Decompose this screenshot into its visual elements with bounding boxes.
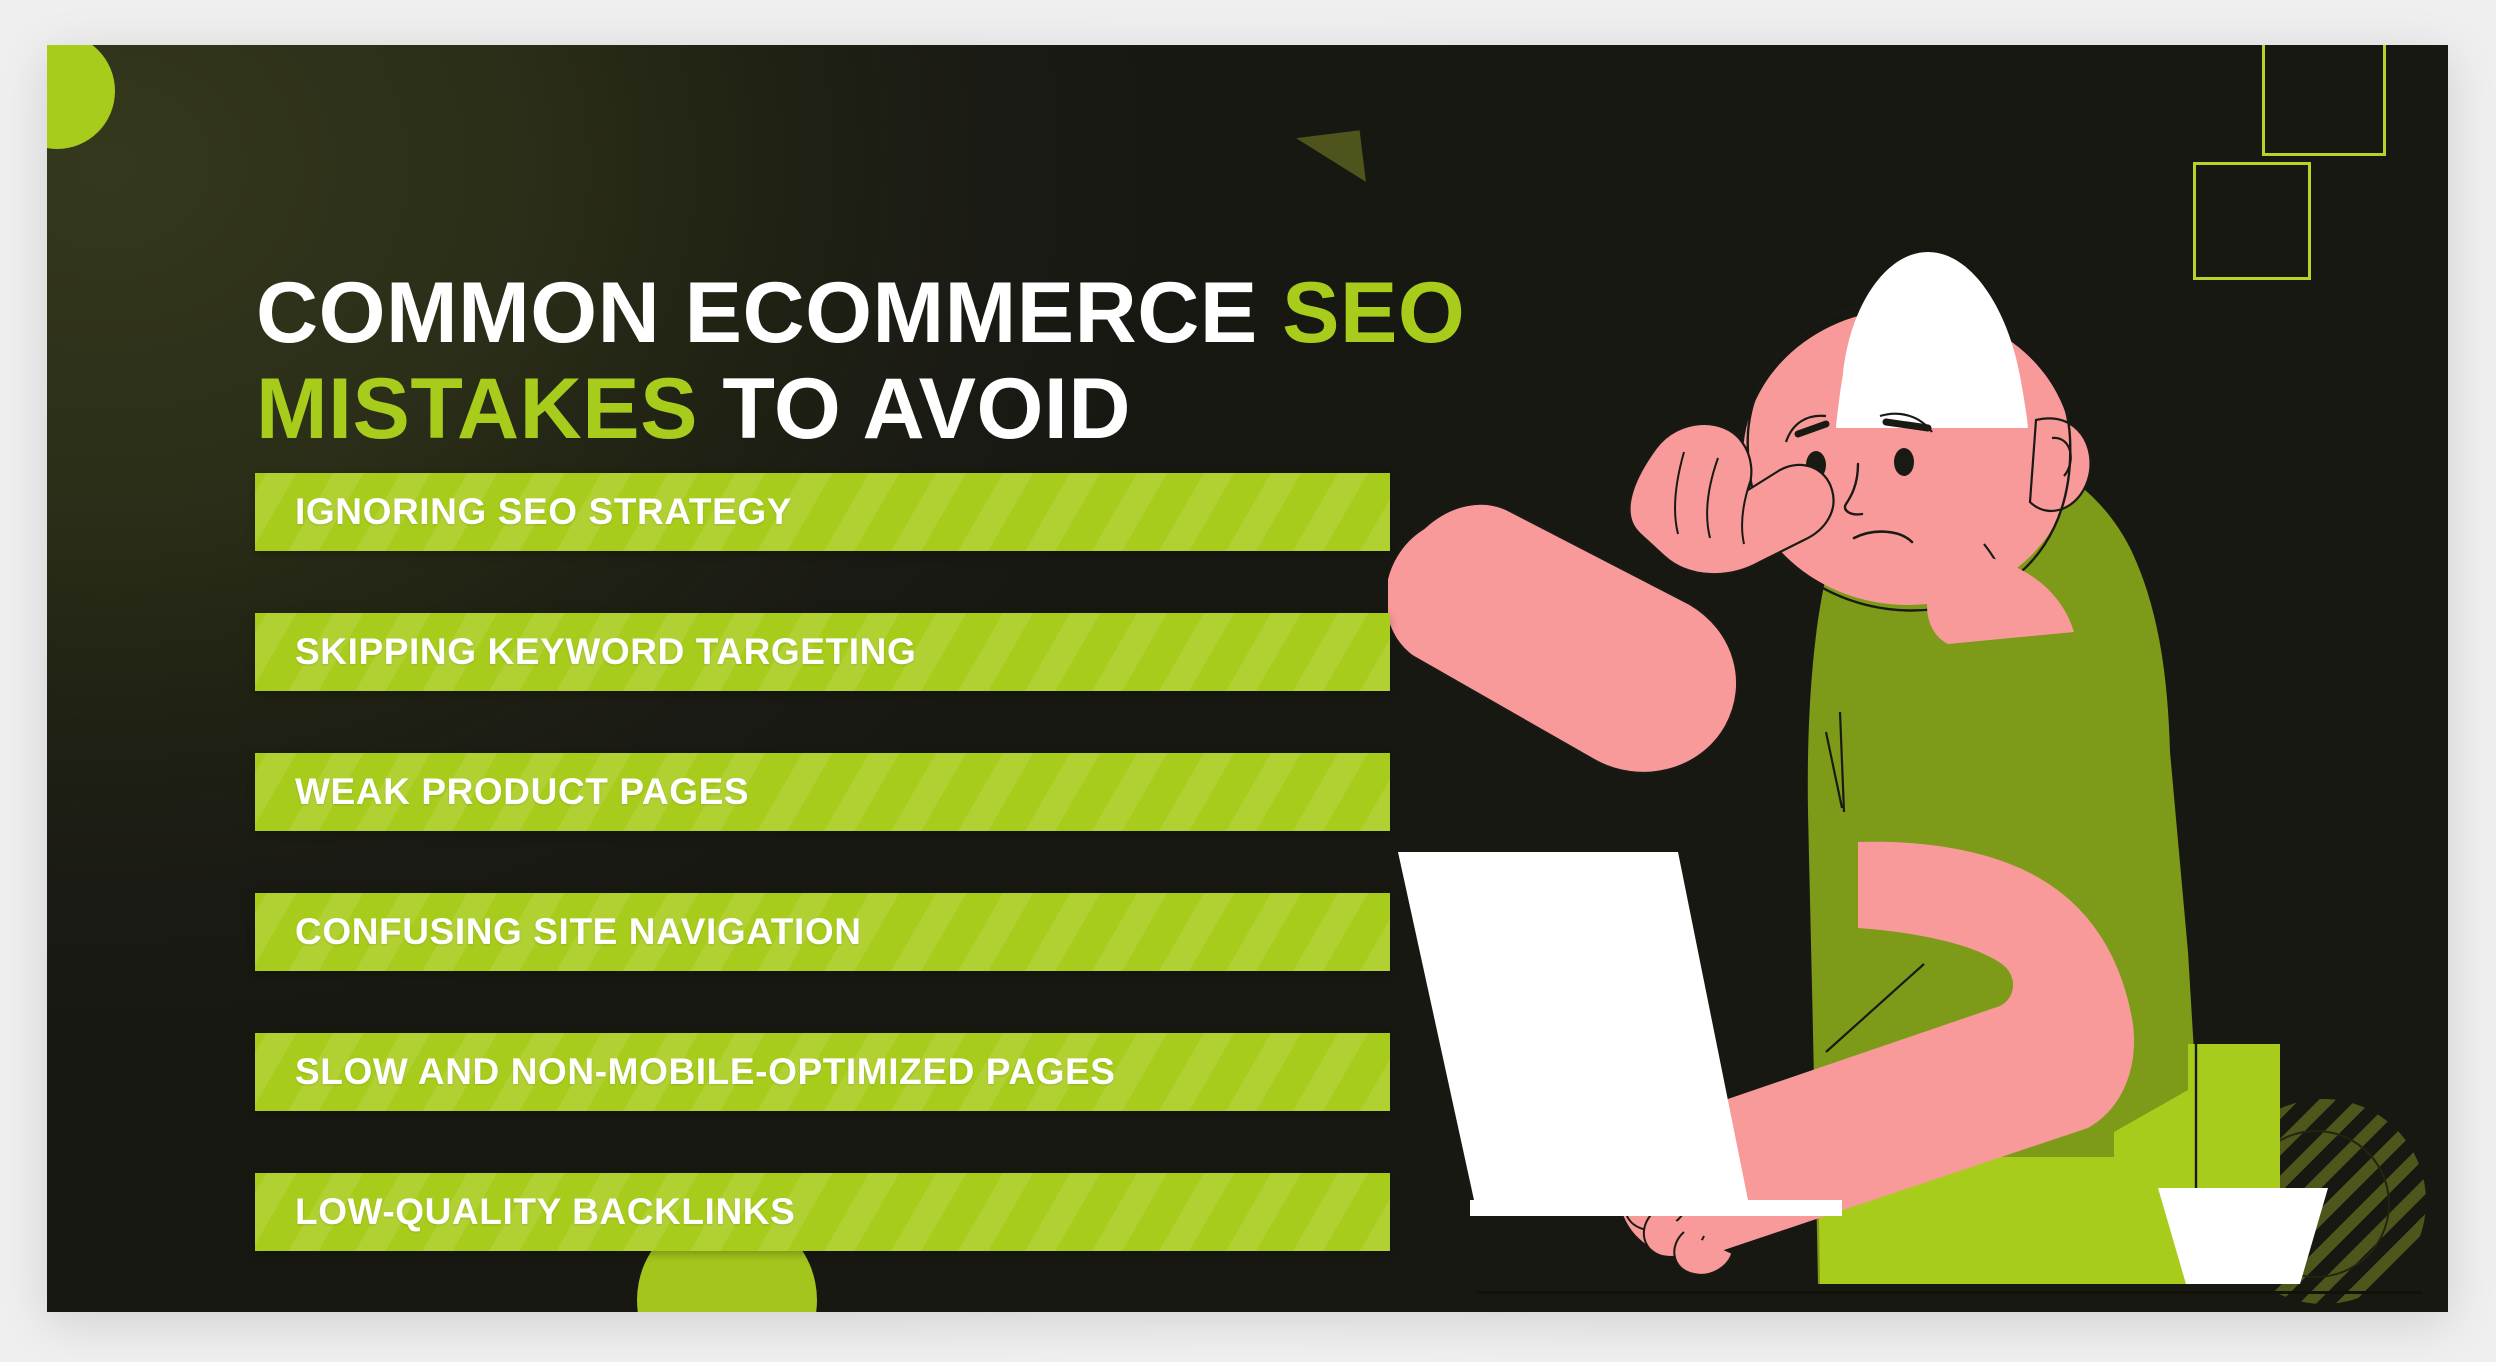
shirt-lower-band [1818,1157,2200,1284]
reaching-hand [1623,1122,1744,1275]
list-item[interactable]: SKIPPING KEYWORD TARGETING [255,613,1390,691]
eye-left [1806,451,1826,479]
laptop-base [1470,1200,1842,1216]
shirt-torso [1808,442,2200,1284]
list-item-label: WEAK PRODUCT PAGES [255,771,749,813]
list-item[interactable]: IGNORING SEO STRATEGY [255,473,1390,551]
list-item-label: SKIPPING KEYWORD TARGETING [255,631,916,673]
page-backdrop: COMMON ECOMMERCE SEO MISTAKES TO AVOID I… [0,0,2496,1362]
page-title: COMMON ECOMMERCE SEO MISTAKES TO AVOID [256,265,1576,458]
floor-line [1477,1291,2422,1294]
eyebrow-arc-left [1786,416,1826,442]
list-item-label: CONFUSING SITE NAVIGATION [255,911,862,953]
list-item-label: LOW-QUALITY BACKLINKS [255,1191,795,1233]
facepalm-hand [1629,424,1833,574]
circle-outline-decoration [2242,1130,2390,1278]
facepalm-arm [1388,504,1737,773]
head [1743,309,2073,605]
list-item-label: SLOW AND NON-MOBILE-OPTIMIZED PAGES [255,1051,1116,1093]
laptop-screen [1398,852,1748,1200]
lower-arm [1619,842,2134,1257]
nose [1845,464,1862,514]
eye-right [1894,448,1914,476]
title-line-1: COMMON ECOMMERCE SEO [256,265,1576,361]
title-line-1-text: COMMON ECOMMERCE [256,265,1282,361]
title-line-2: MISTAKES TO AVOID [256,361,1576,457]
finger-line-2 [1707,458,1718,538]
mouth [1854,532,1912,542]
title-accent-mistakes: MISTAKES [256,361,698,457]
neck-shoulder [1927,552,2074,644]
list-item-label: IGNORING SEO STRATEGY [255,491,792,533]
list-item[interactable]: WEAK PRODUCT PAGES [255,753,1390,831]
mistakes-list: IGNORING SEO STRATEGY SKIPPING KEYWORD T… [255,473,1390,1251]
plant-leaf-left [2114,1090,2188,1252]
finger-line-3 [1742,482,1750,544]
eyebrow-right [1886,422,1928,428]
ear [2030,418,2091,511]
eyebrow-left [1798,424,1826,434]
list-item[interactable]: SLOW AND NON-MOBILE-OPTIMIZED PAGES [255,1033,1390,1111]
white-hat [1836,252,2028,428]
jaw-line [1984,544,2012,604]
ear-inner-line [2052,438,2071,476]
forearm-crease [1826,964,1924,1052]
list-item[interactable]: LOW-QUALITY BACKLINKS [255,1173,1390,1251]
head-outline [1748,300,2071,610]
triangle-accent-decoration [1296,130,1366,189]
eyebrow-arc-right [1880,414,1932,432]
title-line-2-text: TO AVOID [698,361,1131,457]
laptop [1398,852,1842,1216]
finger-line-1 [1675,452,1684,534]
square-outline-decoration-b [2262,45,2386,156]
infographic-card: COMMON ECOMMERCE SEO MISTAKES TO AVOID I… [47,45,2448,1312]
square-outline-decoration-a [2193,162,2311,280]
sleeve-seam [1826,712,1844,812]
title-accent-seo: SEO [1282,265,1465,361]
list-item[interactable]: CONFUSING SITE NAVIGATION [255,893,1390,971]
green-circle-left-decoration [47,45,115,149]
